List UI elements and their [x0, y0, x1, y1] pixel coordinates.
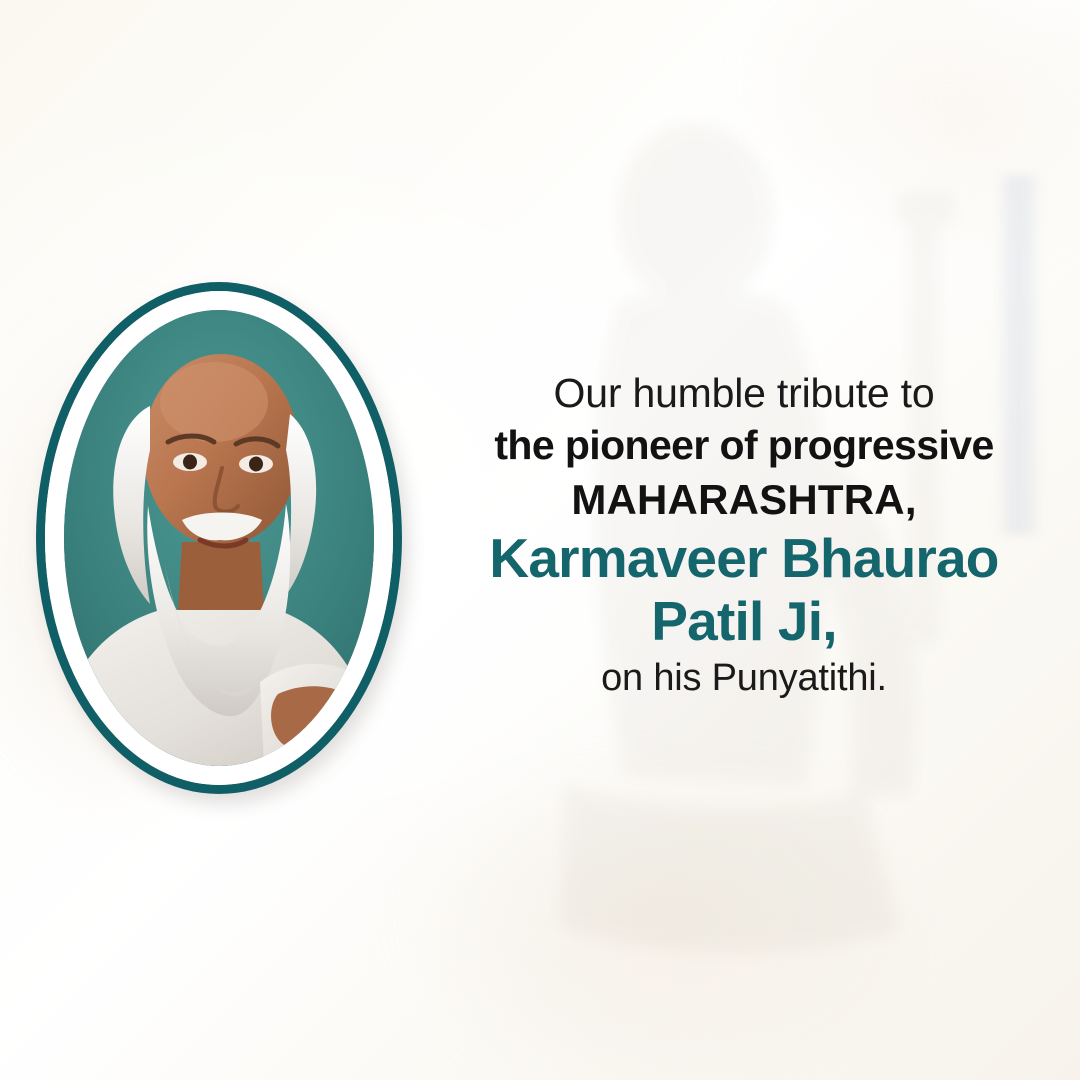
- portrait-photo: [64, 310, 374, 766]
- tribute-line-5-name: Patil Ji,: [424, 590, 1064, 653]
- tribute-line-4-name: Karmaveer Bhaurao: [424, 527, 1064, 590]
- tribute-line-3-state: MAHARASHTRA,: [424, 472, 1064, 527]
- tribute-poster: Our humble tribute to the pioneer of pro…: [0, 0, 1080, 1080]
- tribute-line-2: the pioneer of progressive: [424, 418, 1064, 472]
- tribute-line-6-occasion: on his Punyatithi.: [424, 653, 1064, 703]
- background-wash-top-right: [740, 0, 1080, 260]
- tribute-line-1: Our humble tribute to: [424, 368, 1064, 418]
- portrait-frame: [36, 282, 402, 794]
- background-wash-bottom: [380, 740, 940, 1080]
- tribute-text-block: Our humble tribute to the pioneer of pro…: [424, 368, 1064, 703]
